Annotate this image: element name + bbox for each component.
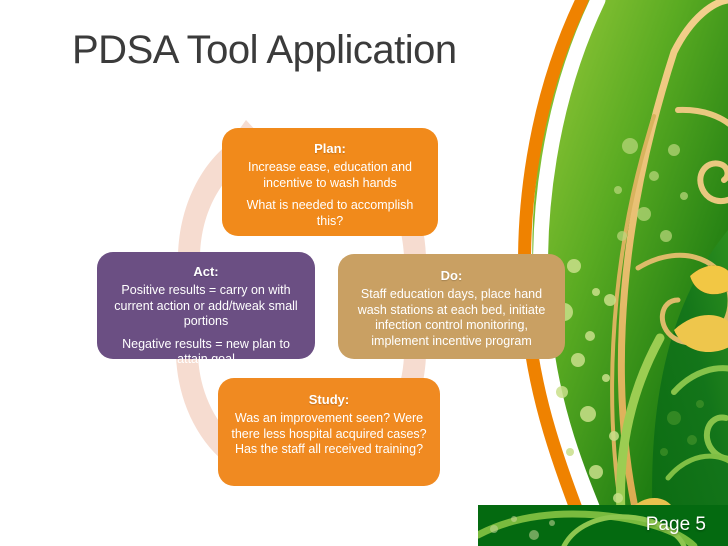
decor-gold-spiral-middle bbox=[638, 255, 728, 342]
act-line-2: Negative results = new plan to attain go… bbox=[107, 337, 305, 368]
decor-green-spiral-1 bbox=[674, 368, 728, 459]
plan-heading: Plan: bbox=[232, 140, 428, 157]
decor-gold-vine-1 bbox=[621, 0, 728, 546]
decor-leaf-1 bbox=[690, 265, 728, 294]
pdsa-box-act[interactable]: Act: Positive results = carry on with cu… bbox=[97, 252, 315, 359]
pdsa-box-plan[interactable]: Plan: Increase ease, education and incen… bbox=[222, 128, 438, 236]
study-line-1: Was an improvement seen? Were there less… bbox=[228, 411, 430, 458]
do-heading: Do: bbox=[348, 267, 555, 284]
decor-leaf-a bbox=[690, 265, 728, 294]
page-title: PDSA Tool Application bbox=[72, 26, 457, 74]
decor-dot-cluster-dark bbox=[660, 400, 704, 456]
pdsa-box-study[interactable]: Study: Was an improvement seen? Were the… bbox=[218, 378, 440, 486]
page-number: Page 5 bbox=[646, 514, 706, 536]
do-line-1: Staff education days, place hand wash st… bbox=[348, 287, 555, 349]
act-line-1: Positive results = carry on with current… bbox=[107, 283, 305, 330]
decor-gold-spiral-upper bbox=[678, 110, 728, 201]
plan-line-1: Increase ease, education and incentive t… bbox=[232, 160, 428, 191]
study-heading: Study: bbox=[228, 391, 430, 408]
plan-line-2: What is needed to accomplish this? bbox=[232, 198, 428, 229]
decor-dot-cluster-upper bbox=[614, 138, 688, 242]
pdsa-box-do[interactable]: Do: Staff education days, place hand was… bbox=[338, 254, 565, 359]
decor-green-dark bbox=[652, 230, 728, 546]
act-heading: Act: bbox=[107, 263, 305, 280]
decor-leaf-2 bbox=[674, 315, 728, 352]
slide-canvas: PDSA Tool Application Plan: Increase eas… bbox=[0, 0, 728, 546]
decor-gold-vine-2 bbox=[612, 116, 654, 546]
decor-dot-cluster bbox=[555, 259, 623, 534]
